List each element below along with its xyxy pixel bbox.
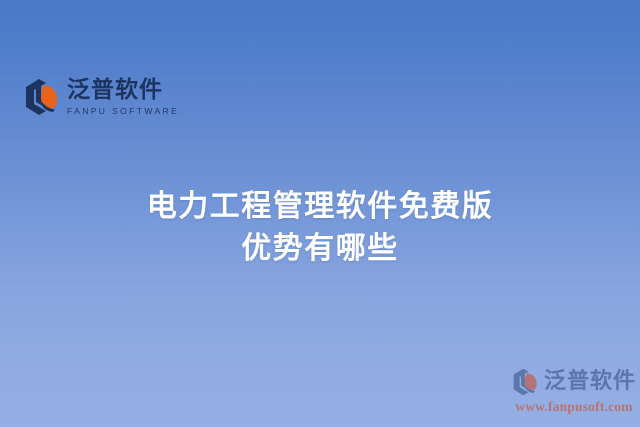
page-title-line-1: 电力工程管理软件免费版 bbox=[0, 186, 640, 228]
brand-name-cn: 泛普软件 bbox=[67, 78, 179, 102]
promo-banner: 泛普软件 FANPU SOFTWARE 电力工程管理软件免费版 优势有哪些 泛普… bbox=[0, 0, 640, 427]
watermark-name-cn: 泛普软件 bbox=[544, 371, 636, 393]
fanpu-hexagon-leaf-logo-icon bbox=[24, 78, 60, 116]
fanpu-hexagon-leaf-logo-icon bbox=[512, 368, 539, 396]
brand-lockup: 泛普软件 FANPU SOFTWARE bbox=[24, 78, 179, 116]
watermark: 泛普软件 www.fanpusoft.com bbox=[512, 368, 636, 415]
watermark-lockup: 泛普软件 bbox=[512, 368, 636, 396]
brand-name-en: FANPU SOFTWARE bbox=[67, 107, 179, 116]
page-title: 电力工程管理软件免费版 优势有哪些 bbox=[0, 186, 640, 270]
page-title-line-2: 优势有哪些 bbox=[0, 228, 640, 270]
watermark-url: www.fanpusoft.com bbox=[515, 399, 632, 415]
brand-wordmark: 泛普软件 FANPU SOFTWARE bbox=[67, 78, 179, 116]
